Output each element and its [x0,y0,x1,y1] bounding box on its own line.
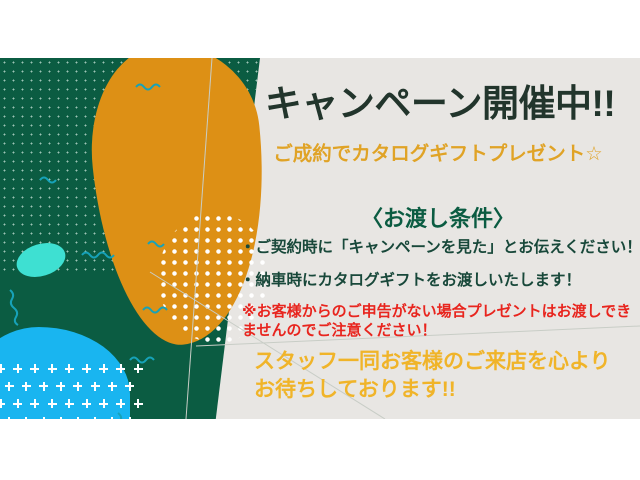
squiggle-icon-1 [82,253,114,258]
closing-line-2: お待ちしております!! [254,376,640,404]
section-title-conditions: 〈お渡し条件〉 [236,208,640,230]
warning-notice: ※お客様からのご申告がない場合プレゼントはお渡しできませんのでご注意ください！ [242,302,634,340]
squiggle-icon-2 [10,290,18,325]
closing-line-1: スタッフ一同お客様のご来店を心より [254,348,640,376]
squiggle-icon-7 [118,413,122,419]
subtitle: ご成約でカタログギフトプレゼント☆ [236,145,640,165]
condition-item-1: ・ご契約時に「キャンペーンを見た」とお伝えください！ [240,240,640,256]
squiggle-icon-4 [40,178,56,183]
campaign-poster: キャンペーン開催中!! ご成約でカタログギフトプレゼント☆ 〈お渡し条件〉 ・ご… [0,0,640,480]
banner-artwork: キャンペーン開催中!! ご成約でカタログギフトプレゼント☆ 〈お渡し条件〉 ・ご… [0,58,640,419]
squiggle-icon-8 [148,242,164,247]
closing-message: スタッフ一同お客様のご来店を心より お待ちしております!! [254,348,640,405]
page-title: キャンペーン開催中!! [240,85,640,122]
poster-text-content: キャンペーン開催中!! ご成約でカタログギフトプレゼント☆ 〈お渡し条件〉 ・ご… [232,58,640,419]
squiggle-icon-3 [143,308,167,313]
squiggle-icon-6 [130,358,154,363]
condition-item-2: ・納車時にカタログギフトをお渡しいたします！ [240,273,581,289]
squiggle-icon-5 [136,85,160,90]
